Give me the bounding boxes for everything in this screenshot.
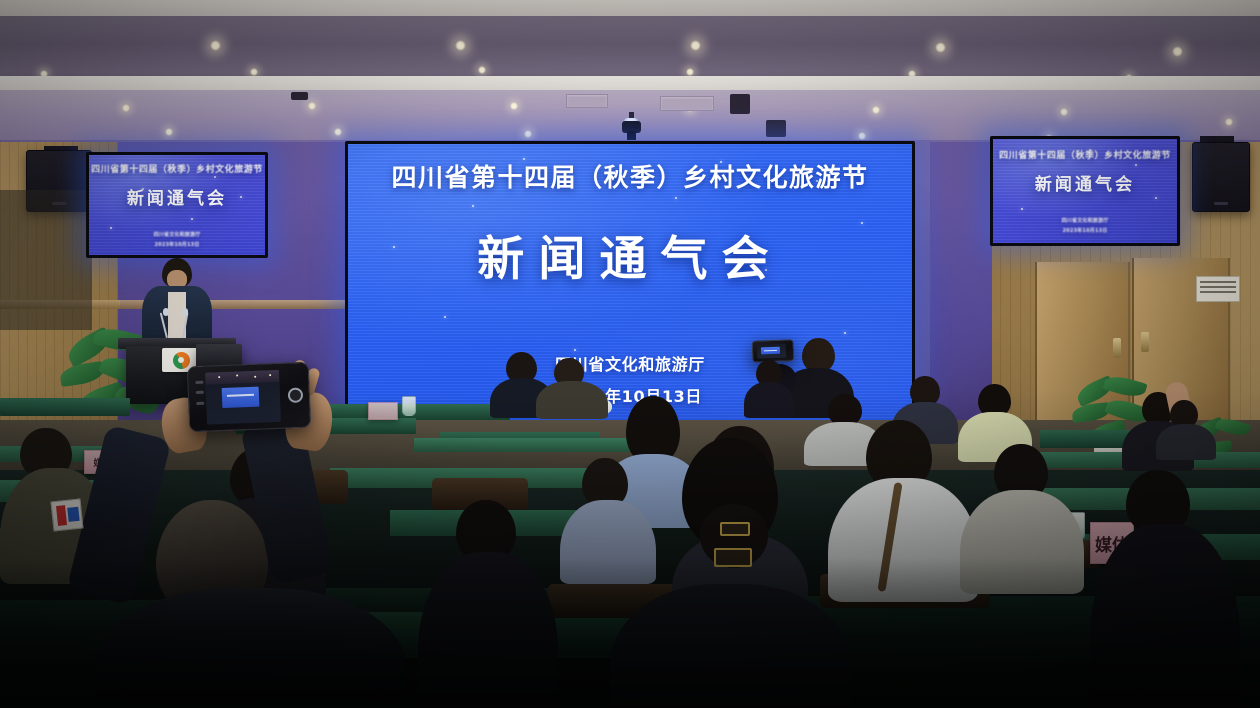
downlight [858, 132, 866, 140]
downlight [250, 68, 258, 76]
left-screen-face: 四川省第十四届（秋季）乡村文化旅游节 新闻通气会 四川省文化和旅游厅 2023年… [89, 155, 265, 255]
downlight [165, 128, 173, 136]
foreground-attendee [610, 438, 850, 708]
downlight [210, 40, 221, 51]
hair-clip [720, 522, 750, 536]
left-screen-date: 2023年10月13日 [154, 241, 199, 248]
right-wall-speaker [1192, 142, 1250, 212]
left-wall-recess [0, 190, 92, 330]
table-row [0, 398, 130, 416]
audience-member [1090, 470, 1240, 708]
right-screen-title: 四川省第十四届（秋季）乡村文化旅游节 [999, 148, 1171, 161]
ceiling-vent [660, 96, 714, 111]
downlight [690, 40, 701, 51]
left-screen-content: 四川省第十四届（秋季）乡村文化旅游节 新闻通气会 四川省文化和旅游厅 2023年… [89, 155, 265, 255]
audience-member [828, 420, 978, 600]
downlight [1225, 118, 1233, 126]
press-armband-badge [51, 499, 84, 532]
right-screen-date: 2023年10月13日 [1062, 227, 1107, 234]
paper-cup [402, 396, 416, 416]
table-card [368, 402, 398, 420]
hair-clip [714, 548, 752, 567]
ceiling-fixture [291, 92, 308, 100]
downlight [872, 106, 880, 114]
microphone-head [163, 308, 169, 316]
downlight [524, 130, 532, 138]
ceiling-vent [566, 94, 608, 108]
downlight [308, 102, 316, 110]
left-screen-title: 四川省第十四届（秋季）乡村文化旅游节 [91, 162, 263, 175]
audience-member [960, 444, 1084, 588]
downlight [510, 102, 518, 110]
right-side-screen: 四川省第十四届（秋季）乡村文化旅游节 新闻通气会 四川省文化和旅游厅 2023年… [990, 136, 1180, 246]
downlight [686, 68, 694, 76]
door-handle[interactable] [1113, 338, 1121, 358]
photographer-torso [96, 588, 406, 708]
phone-screen [205, 370, 281, 424]
left-screen-headline: 新闻通气会 [127, 184, 227, 209]
microphone-head [182, 308, 188, 316]
phone-preview-ceiling [205, 370, 280, 384]
downlight [122, 104, 130, 112]
ceiling-beam [0, 16, 1260, 78]
culture-tourism-logo-icon [173, 352, 190, 369]
door-handle[interactable] [1141, 332, 1149, 352]
ceiling-speaker [766, 120, 786, 137]
downlight [334, 128, 342, 136]
conference-room-photo: 四川省第十四届（秋季）乡村文化旅游节 新闻通气会 四川省文化和旅游厅 2023年… [0, 0, 1260, 708]
downlight [1060, 108, 1068, 116]
wall-sign [1196, 276, 1240, 302]
downlight [478, 66, 486, 74]
ceiling-speaker [730, 94, 750, 114]
main-screen-title: 四川省第十四届（秋季）乡村文化旅游节 [391, 158, 868, 194]
right-screen-headline: 新闻通气会 [1035, 170, 1135, 195]
audience-member [418, 500, 558, 708]
right-screen-face: 四川省第十四届（秋季）乡村文化旅游节 新闻通气会 四川省文化和旅游厅 2023年… [993, 139, 1177, 243]
phone-preview-screen [222, 386, 260, 408]
left-screen-organizer: 四川省文化和旅游厅 [154, 231, 201, 238]
left-side-screen: 四川省第十四届（秋季）乡村文化旅游节 新闻通气会 四川省文化和旅游厅 2023年… [86, 152, 268, 258]
phone-shutter-button[interactable] [288, 387, 304, 403]
downlight [935, 42, 946, 53]
podium-speaker [140, 258, 214, 350]
smartphone-recording[interactable] [187, 362, 311, 433]
right-screen-organizer: 四川省文化和旅游厅 [1062, 217, 1109, 224]
right-screen-content: 四川省第十四届（秋季）乡村文化旅游节 新闻通气会 四川省文化和旅游厅 2023年… [993, 139, 1177, 243]
audience-member [744, 360, 794, 416]
main-screen-headline: 新闻通气会 [477, 220, 783, 289]
audience-member [536, 358, 608, 416]
audience-member [1156, 400, 1216, 454]
downlight [1172, 46, 1183, 57]
downlight [455, 40, 466, 51]
